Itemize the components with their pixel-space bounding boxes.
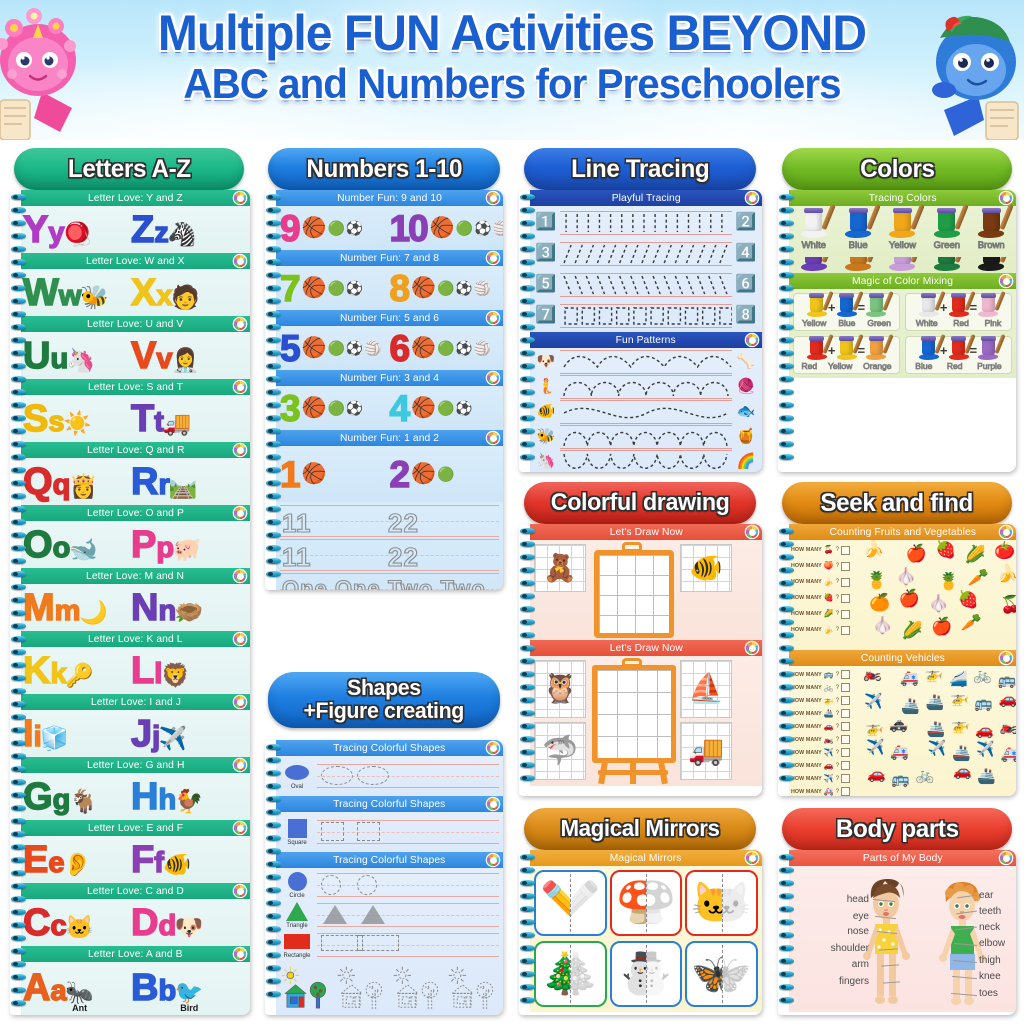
motorcycle-icon: 🏍️ (824, 736, 834, 744)
color-mix-card: +=BlueRedPurple (905, 336, 1012, 374)
stars-badge-icon (234, 822, 246, 834)
ball-icon: 🏐 (474, 281, 491, 295)
strawberry-icon: 🍓 (935, 541, 956, 558)
question-mark: ? (836, 711, 839, 717)
letter-pair-right: Jj✈️ (131, 715, 238, 753)
ball-icon: ⚽ (455, 341, 472, 355)
trace-lane (560, 210, 732, 236)
ball-group: 🏀🟢⚽ (302, 218, 364, 238)
house-tree-sun-trace-icon (392, 964, 444, 1015)
ball-icon: 🟢 (437, 281, 454, 295)
bicycle-icon: 🚲 (973, 668, 992, 683)
row-header-label: Let's Draw Now (609, 642, 682, 654)
ball-group: 🏀🟢⚽ (302, 278, 364, 298)
shape-label: Circle (289, 893, 304, 899)
hen-icon: 🐓 (175, 790, 204, 813)
stars-badge-icon (487, 252, 499, 264)
color-name-label: Yellow (802, 318, 826, 328)
pencil-icon: ✏️ (540, 883, 570, 923)
ball-group: 🏀🟢⚽ (302, 398, 364, 418)
letter-pair-left: Kk🔑 (23, 652, 130, 690)
paint-jar-group (919, 340, 939, 360)
trace-left-icon: 5️⃣ (535, 275, 557, 294)
stars-badge-icon (1000, 526, 1012, 538)
seek-checklist-item[interactable]: HOW MANY🚁? (791, 694, 865, 707)
picture-grid-card: 🦉 (534, 660, 586, 718)
letter-row: Ss☀️Tt🚚 (21, 395, 250, 442)
seek-checklist-item[interactable]: HOW MANY🚑? (791, 785, 865, 796)
mirror-center-line (570, 945, 571, 1003)
shape-row: CircleTriangleRectangle (276, 868, 503, 1015)
lane-line (317, 873, 499, 874)
pig-icon: 🐖 (173, 538, 202, 561)
how-many-label: HOW MANY (791, 627, 822, 633)
mirror-center-line (722, 874, 723, 932)
paintbrush-icon (999, 257, 1012, 263)
letter-picture-left: 🧊 (42, 727, 68, 750)
letter-uppercase: I (23, 715, 33, 753)
letter-uppercase: V (131, 337, 155, 375)
trace-lane (560, 272, 732, 298)
how-many-label: HOW MANY (791, 595, 822, 601)
paintbrush-icon (822, 257, 836, 263)
seek-checklist-item[interactable]: HOW MANY✈️? (791, 772, 865, 785)
letter-pair-left: Ss☀️ (23, 400, 130, 438)
truck-icon: 🚚 (163, 412, 192, 435)
seek-checklist-item[interactable]: HOW MANY🚗? (791, 759, 865, 772)
mirror-card[interactable]: 🦋🦋 (685, 941, 758, 1007)
number-glyph: 4 (390, 390, 409, 427)
paint-splat-icon (845, 263, 871, 271)
letter-pair-right: Hh🐓 (131, 778, 238, 816)
seek-checklist-item[interactable]: HOW MANY🚢? (791, 707, 865, 720)
question-mark: ? (836, 685, 839, 691)
helicopter-icon: 🚁 (865, 721, 884, 736)
shape-trace-outline (357, 822, 380, 841)
shape-label-group: Square (280, 819, 314, 846)
letter-picture-left: 🐜Ant (67, 981, 93, 1013)
letter-pair-left: Oo🐋 (23, 526, 130, 564)
paint-jar-group (807, 340, 827, 360)
paint-jar-group: Brown (970, 212, 1012, 251)
seek-checklist-item[interactable]: HOW MANY🌽? (791, 606, 865, 622)
stars-badge-icon (487, 372, 499, 384)
body-part-label-left: nose (847, 926, 869, 937)
question-mark: ? (836, 563, 839, 569)
notebook-colorful-drawing[interactable]: Let's Draw Now🧸🐠Let's Draw Now🦉🦈⛵🚚 (519, 524, 762, 796)
car-icon: 🚗 (824, 762, 834, 770)
paint-splat-icon (801, 263, 827, 271)
seek-checklist-item[interactable]: HOW MANY🍌? (791, 574, 865, 590)
rainbow-icon: 🌈 (737, 453, 756, 470)
answer-checkbox[interactable] (841, 610, 850, 619)
paint-jar-group (837, 257, 879, 271)
letter-lowercase: d (158, 912, 175, 941)
letter-lowercase: q (53, 471, 70, 500)
answer-checkbox[interactable] (841, 787, 850, 796)
paintbrush-icon (994, 291, 1005, 311)
easel-grid-icon (590, 658, 678, 784)
question-mark: ? (836, 724, 839, 730)
letter-picture-right: 🧑 (173, 286, 199, 309)
letter-lowercase: e (48, 849, 63, 878)
lane-line (317, 956, 499, 957)
stars-badge-icon (746, 192, 758, 204)
shape-line: Triangle (280, 900, 499, 930)
bee-icon: 🐝 (80, 286, 109, 309)
dog-icon: 🐶 (175, 916, 204, 939)
ball-group: 🏀🟢⚽🏐 (430, 218, 503, 238)
number-row: 9🏀🟢⚽10🏀🟢⚽🏐 (276, 206, 503, 250)
shape-row: Square (276, 812, 503, 852)
mirror-colored-half: 🦋 (687, 943, 721, 1005)
stars-badge-icon (1000, 192, 1012, 204)
letter-lowercase: v (156, 345, 171, 374)
letter-pair-right: Ll🦁 (131, 652, 238, 690)
shape-trace-lane (317, 872, 499, 898)
row-header-label: Tracing Colors (869, 192, 937, 204)
number-5-icon: 5️⃣ (535, 274, 556, 293)
question-mark: ? (836, 595, 839, 601)
paint-jar-icon (850, 212, 867, 231)
ball-group: 🏀 (302, 464, 327, 484)
mirror-dashed-half: 🍄 (646, 872, 680, 934)
stars-badge-icon (234, 696, 246, 708)
goat-icon: 🐐 (69, 790, 98, 813)
ball-group: 🏀🟢 (411, 464, 454, 484)
trace-left-icon: 1️⃣ (535, 213, 557, 232)
letter-pair-left: Ww🐝 (23, 274, 130, 312)
answer-checkbox[interactable] (841, 562, 850, 571)
trace-right-icon: 🐟 (735, 403, 757, 421)
paint-splat-icon (934, 263, 960, 271)
letter-lowercase: y (48, 219, 63, 248)
notebook-shapes[interactable]: Tracing Colorful ShapesOvalTracing Color… (265, 740, 503, 1015)
shape-trace-outline (321, 766, 353, 785)
row-header: Letter Love: M and N (21, 568, 250, 584)
yoyo-icon: 🪀 (63, 223, 92, 246)
car-icon: 🚗 (953, 764, 972, 779)
row-header-label: Letter Love: E and F (88, 822, 183, 834)
color-name-label: White (802, 240, 826, 251)
seek-checklist-item[interactable]: HOW MANY🏍️? (791, 733, 865, 746)
section-pill-seek-and-find[interactable]: Seek and find (782, 482, 1012, 524)
paint-jar-icon (938, 257, 955, 264)
oval-shape-icon (285, 765, 309, 780)
bus-icon: 🚌 (974, 696, 993, 711)
paintbrush-icon (822, 204, 836, 230)
trace-lane (560, 399, 732, 425)
color-name-label: Red (947, 361, 963, 371)
ball-group: 🏀🟢⚽🏐 (411, 338, 491, 358)
answer-checkbox[interactable] (841, 670, 850, 679)
shape-trace-lane (317, 763, 499, 789)
paint-jar-icon (982, 340, 995, 355)
row-header: Magic of Color Mixing (789, 273, 1016, 289)
section-pill-body-parts[interactable]: Body parts (782, 808, 1012, 850)
paint-jar-group (807, 297, 827, 317)
seek-checklist-item[interactable]: HOW MANY🍓? (791, 590, 865, 606)
tracing-rows: 🐶🦴🧜🧶🐠🐟🐝🍯🦄🌈 (530, 348, 762, 472)
stars-badge-icon (1000, 652, 1012, 664)
question-mark: ? (836, 698, 839, 704)
section-pill-colors[interactable]: Colors (782, 148, 1012, 190)
answer-checkbox[interactable] (841, 748, 850, 757)
trace-left-icon: 3️⃣ (535, 244, 557, 263)
lane-line (317, 843, 499, 844)
letter-uppercase: S (23, 400, 47, 438)
answer-checkbox[interactable] (841, 683, 850, 692)
paint-jar-group (919, 297, 939, 317)
mirror-card[interactable]: 🍄🍄 (610, 870, 683, 936)
cat-icon: 🐱 (65, 916, 94, 939)
ball-icon: 🏀 (411, 398, 436, 418)
letter-uppercase: A (23, 969, 49, 1007)
letter-uppercase: G (23, 778, 52, 816)
lane-bottom-line (560, 265, 732, 266)
sailboat-icon: ⛵ (688, 675, 724, 704)
lane-bottom-line (560, 296, 732, 297)
ambulance-icon: 🚑 (824, 788, 834, 796)
row-header-label: Magic of Color Mixing (852, 275, 953, 287)
row-header-label: Number Fun: 5 and 6 (340, 312, 439, 324)
lane-line (317, 933, 499, 934)
rectangle-shape-icon (284, 934, 310, 949)
paint-jar-group (837, 297, 857, 317)
answer-checkbox[interactable] (841, 696, 850, 705)
stars-badge-icon (487, 854, 499, 866)
question-mark: ? (836, 579, 839, 585)
row-header: Letter Love: O and P (21, 505, 250, 521)
mermaid-icon: 🧜 (537, 378, 556, 395)
shape-swatch-square (284, 819, 310, 839)
letter-pair-right: Vv👩‍⚕️ (131, 337, 238, 375)
seek-checklist-item[interactable]: HOW MANY🍑? (791, 558, 865, 574)
section-pill-numbers[interactable]: Numbers 1-10 (268, 148, 500, 190)
mirror-card[interactable]: ✏️✏️ (534, 870, 607, 936)
bus-icon: 🚌 (891, 772, 910, 787)
teddy-bear-icon: 🧸 (543, 555, 577, 582)
row-header-label: Tracing Colorful Shapes (333, 798, 445, 810)
trace-right-icon: 🧶 (735, 378, 757, 396)
number-group: 9🏀🟢⚽ (280, 210, 390, 247)
section-pill-letters[interactable]: Letters A-Z (14, 148, 244, 190)
tomato-icon: 🍅 (994, 542, 1015, 559)
answer-checkbox[interactable] (841, 709, 850, 718)
how-many-label: HOW MANY (791, 547, 822, 553)
row-header: Letter Love: G and H (21, 757, 250, 773)
row-header-label: Letter Love: C and D (87, 885, 184, 897)
row-header-label: Parts of My Body (863, 852, 943, 864)
trace-right-icon: 6️⃣ (735, 275, 757, 294)
letter-picture-right: 🚚 (164, 412, 190, 435)
trace-band: 7️⃣8️⃣ (532, 300, 760, 331)
letter-picture-left: 👂 (65, 853, 91, 876)
letter-lowercase: m (55, 597, 80, 626)
clipboard-grid-icon (592, 542, 676, 638)
shape-swatch-oval (284, 763, 310, 783)
lane-line (317, 926, 499, 927)
how-many-label: HOW MANY (791, 789, 822, 795)
ball-icon: 🟢 (327, 221, 344, 235)
mirror-card[interactable]: ⛄⛄ (610, 941, 683, 1007)
row-header: Letter Love: S and T (21, 379, 250, 395)
section-pill-magical-mirrors[interactable]: Magical Mirrors (524, 808, 756, 850)
ball-icon: 🟢 (437, 401, 454, 415)
paint-row-secondary (793, 257, 1012, 271)
ball-icon: 🟢 (437, 341, 454, 355)
letter-pair-left: Ee👂 (23, 841, 130, 879)
paint-jar-group (793, 257, 835, 271)
seek-checklist-item[interactable]: HOW MANY🍒? (791, 542, 865, 558)
section-pill-colorful-drawing[interactable]: Colorful drawing (524, 482, 756, 524)
color-name-label: Blue (915, 361, 932, 371)
trace-band: 🐠🐟 (532, 399, 760, 424)
letter-uppercase: D (131, 904, 157, 942)
banana-icon: 🍌 (863, 540, 884, 557)
shape-label-group: Circle (280, 872, 314, 899)
row-header-label: Letter Love: S and T (88, 381, 183, 393)
letter-lowercase: h (158, 786, 175, 815)
trace-band: 🐶🦴 (532, 349, 760, 374)
number-2-icon: 2️⃣ (735, 212, 756, 231)
plane-icon: ✈️ (976, 742, 995, 757)
row-header-label: Letter Love: U and V (87, 318, 183, 330)
trace-band: 🧜🧶 (532, 374, 760, 399)
notebook-body-parts[interactable]: Parts of My Bodyheadeyenoseshoulderarmfi… (778, 850, 1016, 1015)
letter-row: Ii🧊Jj✈️ (21, 710, 250, 757)
practice-trace-right: Two Two (388, 576, 486, 590)
shape-row: Oval (276, 756, 503, 796)
paintbrush-icon (910, 257, 924, 263)
answer-checkbox[interactable] (841, 626, 850, 635)
color-mix-labels: YellowBlueGreen (796, 318, 897, 328)
question-mark: ? (836, 627, 839, 633)
seek-checklist-item[interactable]: HOW MANY✈️? (791, 746, 865, 759)
ball-icon: 🏐 (364, 341, 381, 355)
answer-checkbox[interactable] (841, 578, 850, 587)
notebook-numbers[interactable]: Number Fun: 9 and 109🏀🟢⚽10🏀🟢⚽🏐Number Fun… (265, 190, 503, 590)
answer-checkbox[interactable] (841, 594, 850, 603)
how-many-label: HOW MANY (791, 711, 822, 717)
row-header: Parts of My Body (789, 850, 1016, 866)
answer-checkbox[interactable] (841, 735, 850, 744)
mirror-center-line (646, 874, 647, 932)
number-group: 4🏀🟢⚽ (390, 390, 500, 427)
section-pill-line-tracing[interactable]: Line Tracing (524, 148, 756, 190)
carrot-icon: 🥕 (968, 569, 989, 586)
ball-icon: ⚽ (346, 221, 363, 235)
letter-pair-left: Gg🐐 (23, 778, 130, 816)
number-row: 5🏀🟢⚽🏐6🏀🟢⚽🏐 (276, 326, 503, 370)
mirror-card[interactable]: 🐱🐱 (685, 870, 758, 936)
trace-left-icon: 7️⃣ (535, 306, 557, 325)
paint-jar-group: White (793, 212, 835, 251)
letter-picture-right: 🐦Bird (176, 981, 202, 1013)
letter-picture-right: 🐶 (176, 916, 202, 939)
letter-picture-left: 🐝 (81, 286, 107, 309)
practice-trace-left: 11 (282, 542, 312, 573)
section-pill-shapes[interactable]: Shapes +Figure creating (268, 672, 500, 728)
row-header-label: Counting Vehicles (860, 652, 944, 664)
mirror-outline-icon: 🍄 (646, 883, 676, 923)
bird-icon: 🐦 (175, 981, 204, 1004)
apple-icon: 🍎 (906, 545, 927, 562)
row-header-label: Letter Love: Q and R (87, 444, 184, 456)
letter-uppercase: X (131, 274, 155, 312)
trace-right-icon: 4️⃣ (735, 244, 757, 263)
paint-jar-icon (805, 212, 822, 231)
letter-pair-left: Ii🧊 (23, 715, 130, 753)
letter-picture-right: 🐖 (174, 538, 200, 561)
ball-icon: 🏀 (302, 398, 327, 418)
mirror-colored-half: 🎄 (536, 943, 570, 1005)
notebook-magical-mirrors[interactable]: Magical Mirrors✏️✏️🍄🍄🐱🐱🎄🎄⛄⛄🦋🦋 (519, 850, 762, 1015)
how-many-label: HOW MANY (791, 698, 822, 704)
row-header: Number Fun: 9 and 10 (276, 190, 503, 206)
how-many-label: HOW MANY (791, 672, 822, 678)
mirror-card[interactable]: 🎄🎄 (534, 941, 607, 1007)
notebook-colors[interactable]: Tracing ColorsWhiteBlueYellowGreenBrownM… (778, 190, 1016, 472)
numbers-practice: 11221122One OneTwo Two (276, 502, 503, 590)
notebook-seek-and-find[interactable]: Counting Fruits and VegetablesHOW MANY🍒?… (778, 524, 1016, 796)
ball-icon: 🏀 (430, 218, 455, 238)
how-many-label: HOW MANY (791, 563, 822, 569)
stars-badge-icon (746, 852, 758, 864)
body-part-label-right: knee (979, 971, 1001, 982)
row-header: Magical Mirrors (530, 850, 762, 866)
ball-icon: 🏀 (302, 464, 327, 484)
row-header: Letter Love: C and D (21, 883, 250, 899)
seek-pages: Counting Fruits and VegetablesHOW MANY🍒?… (789, 524, 1016, 796)
body-part-label-right: teeth (979, 906, 1001, 917)
answer-checkbox[interactable] (841, 761, 850, 770)
mushroom-icon: 🍄 (616, 883, 646, 923)
row-header: Tracing Colorful Shapes (276, 852, 503, 868)
row-header-label: Letter Love: I and J (90, 696, 180, 708)
question-mark: ? (836, 776, 839, 782)
row-header: Number Fun: 1 and 2 (276, 430, 503, 446)
notebook-letters[interactable]: Letter Love: Y and ZYy🪀Zz🦓Letter Love: W… (10, 190, 250, 1015)
color-name-label: Blue (838, 318, 855, 328)
trace-lane (560, 374, 732, 400)
number-glyph: 9 (280, 210, 299, 247)
trace-left-icon: 🐝 (535, 428, 557, 446)
paint-jar-icon (870, 340, 883, 355)
answer-checkbox[interactable] (841, 774, 850, 783)
seek-checklist-item[interactable]: HOW MANY🚲? (791, 681, 865, 694)
notebook-line-tracing[interactable]: Playful Tracing1️⃣2️⃣3️⃣4️⃣5️⃣6️⃣7️⃣8️⃣F… (519, 190, 762, 472)
seek-checklist-item[interactable]: HOW MANY🚗? (791, 720, 865, 733)
question-mark: ? (836, 789, 839, 795)
answer-checkbox[interactable] (841, 546, 850, 555)
ball-icon: 🟢 (456, 221, 473, 235)
shape-label-group: Triangle (280, 902, 314, 929)
letter-picture-right: 👩‍⚕️ (173, 349, 199, 372)
color-mix-labels: RedYellowOrange (796, 361, 897, 371)
letter-picture-right: 🛤️ (170, 475, 196, 498)
seek-checklist-item[interactable]: HOW MANY🍌? (791, 622, 865, 638)
number-row: 7🏀🟢⚽8🏀🟢⚽🏐 (276, 266, 503, 310)
row-header: Letter Love: U and V (21, 316, 250, 332)
answer-checkbox[interactable] (841, 722, 850, 731)
mirror-dashed-half: ✏️ (570, 872, 604, 934)
mirrors-pages: Magical Mirrors✏️✏️🍄🍄🐱🐱🎄🎄⛄⛄🦋🦋 (530, 850, 762, 1015)
stars-badge-icon (234, 507, 246, 519)
seek-checklist-item[interactable]: HOW MANY🚌? (791, 668, 865, 681)
letter-lowercase: s (48, 408, 63, 437)
color-name-label: Red (801, 361, 817, 371)
